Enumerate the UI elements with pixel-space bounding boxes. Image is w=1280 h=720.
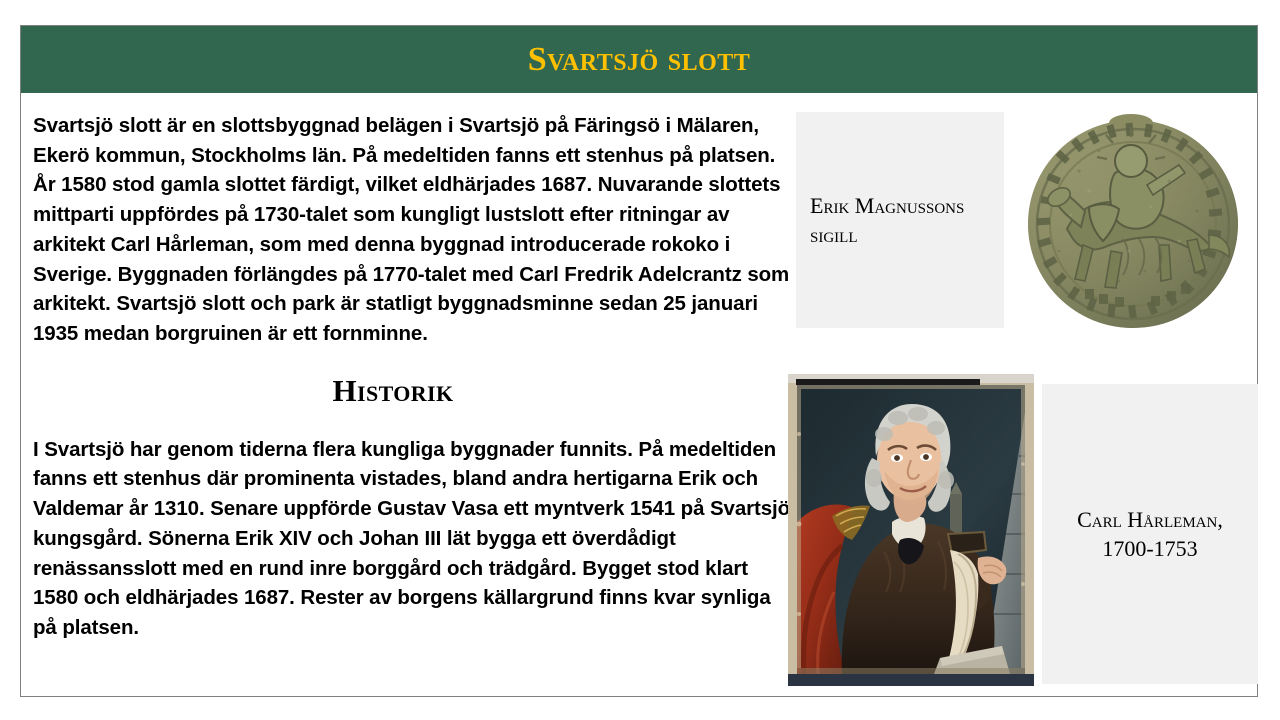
caption-box-seal: Erik Magnussons sigill (796, 112, 1004, 328)
slide-frame: Svartsjö slott Svartsjö slott är en slot… (20, 25, 1258, 697)
caption-portrait-text: Carl Hårleman, 1700-1753 (1052, 505, 1248, 564)
caption-box-portrait: Carl Hårleman, 1700-1753 (1042, 384, 1258, 684)
paragraph-historik: I Svartsjö har genom tiderna flera kungl… (33, 435, 793, 643)
page-title: Svartsjö slott (528, 43, 751, 77)
paragraph-intro: Svartsjö slott är en slottsbyggnad beläg… (33, 111, 793, 349)
caption-seal-text: Erik Magnussons sigill (810, 191, 990, 250)
seal-image (1019, 111, 1247, 336)
portrait-image (788, 374, 1034, 686)
text-column: Svartsjö slott är en slottsbyggnad beläg… (33, 111, 793, 643)
slide-title-bar: Svartsjö slott (21, 26, 1257, 93)
section-heading-historik: Historik (33, 373, 793, 409)
